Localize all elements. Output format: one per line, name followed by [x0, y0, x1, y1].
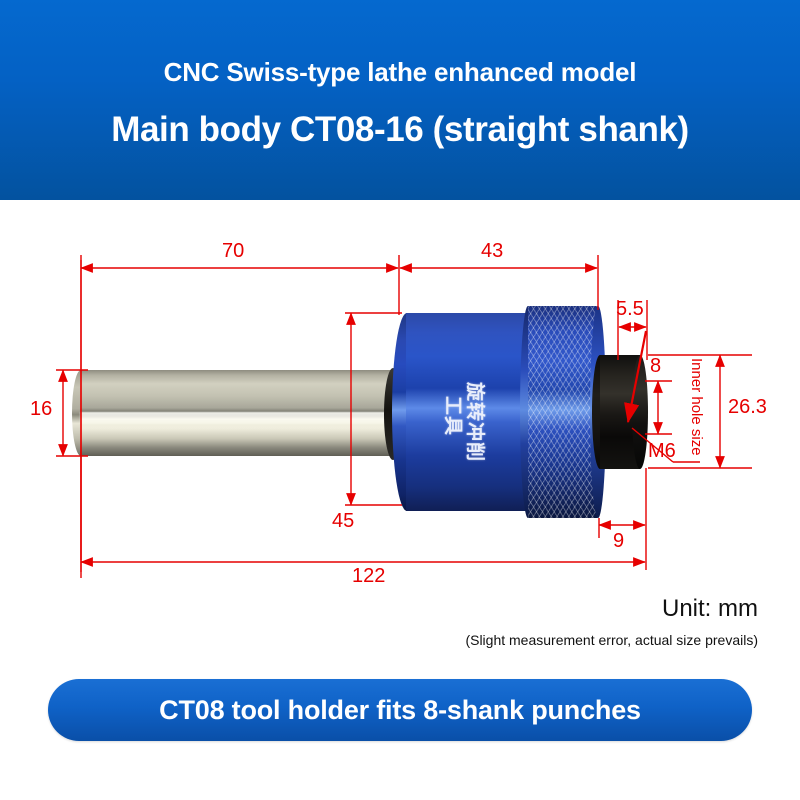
product-spec-page: CNC Swiss-type lathe enhanced model Main…	[0, 0, 800, 800]
dim-label-knurl-diameter: 26.3	[728, 396, 767, 419]
footer-banner: CT08 tool holder fits 8-shank punches	[48, 679, 752, 741]
technical-drawing: 旋转冲削 工具	[0, 200, 800, 670]
header-subtitle: CNC Swiss-type lathe enhanced model	[164, 57, 637, 88]
dim-label-inner-hole: 8	[650, 355, 661, 378]
dim-label-endcap-offset: 5.5	[616, 298, 644, 321]
measurement-note: (Slight measurement error, actual size p…	[465, 632, 758, 648]
dim-label-shank-diameter: 16	[30, 398, 52, 421]
dim-label-thread-callout: M6	[648, 440, 676, 463]
dim-label-inner-hole-size: Inner hole size	[688, 358, 705, 456]
dim-label-body-diameter: 45	[332, 510, 354, 533]
dim-label-endcap-length: 9	[613, 530, 624, 553]
header-title: Main body CT08-16 (straight shank)	[111, 110, 689, 150]
dim-label-shank-length: 70	[222, 240, 244, 263]
dim-label-body-length: 43	[481, 240, 503, 263]
unit-label: Unit: mm	[662, 595, 758, 623]
footer-banner-text: CT08 tool holder fits 8-shank punches	[159, 695, 641, 726]
header-banner: CNC Swiss-type lathe enhanced model Main…	[0, 0, 800, 200]
dim-label-total-length: 122	[352, 565, 385, 588]
